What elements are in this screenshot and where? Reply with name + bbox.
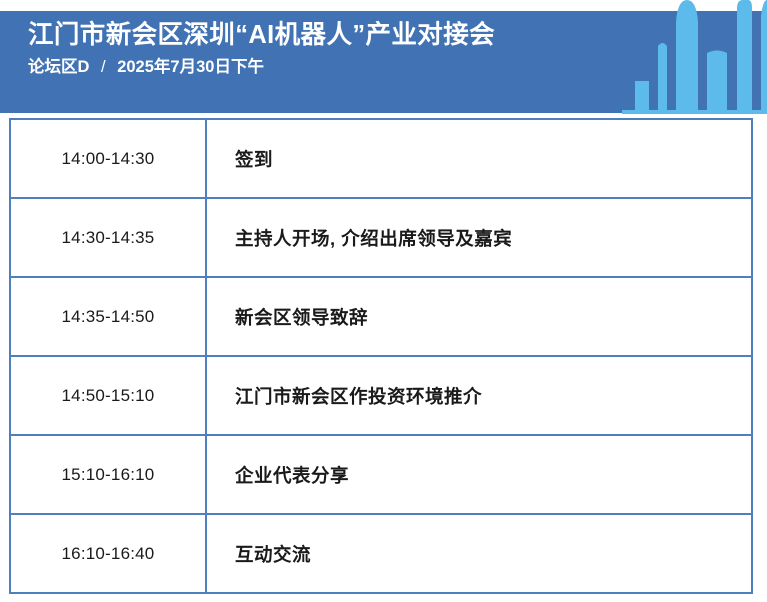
skyline-building-1 bbox=[635, 81, 649, 113]
row-time: 16:10-16:40 bbox=[10, 514, 206, 593]
row-time: 14:30-14:35 bbox=[10, 198, 206, 277]
agenda-poster: 江门市新会区深圳“AI机器人”产业对接会 论坛区D / 2025年7月30日下午 bbox=[0, 0, 767, 602]
row-topic: 企业代表分享 bbox=[206, 435, 752, 514]
skyline-building-2 bbox=[658, 43, 667, 113]
skyline-baseline bbox=[622, 110, 767, 114]
table-row: 14:35-14:50 新会区领导致辞 bbox=[10, 277, 752, 356]
row-topic: 主持人开场, 介绍出席领导及嘉宾 bbox=[206, 198, 752, 277]
table-row: 16:10-16:40 互动交流 bbox=[10, 514, 752, 593]
skyline-building-5 bbox=[737, 0, 752, 113]
skyline-building-3 bbox=[676, 0, 698, 113]
agenda-table-body: 14:00-14:30 签到 14:30-14:35 主持人开场, 介绍出席领导… bbox=[10, 119, 752, 593]
table-row: 14:30-14:35 主持人开场, 介绍出席领导及嘉宾 bbox=[10, 198, 752, 277]
skyline-building-6 bbox=[761, 0, 767, 113]
row-topic: 互动交流 bbox=[206, 514, 752, 593]
table-row: 14:50-15:10 江门市新会区作投资环境推介 bbox=[10, 356, 752, 435]
subtitle-date: 2025年7月30日下午 bbox=[117, 58, 264, 76]
row-topic: 江门市新会区作投资环境推介 bbox=[206, 356, 752, 435]
city-skyline-graphic bbox=[613, 0, 767, 120]
page-title: 江门市新会区深圳“AI机器人”产业对接会 bbox=[28, 18, 628, 52]
row-topic: 新会区领导致辞 bbox=[206, 277, 752, 356]
row-time: 14:50-15:10 bbox=[10, 356, 206, 435]
subtitle-venue: 论坛区D bbox=[28, 58, 89, 76]
table-row: 14:00-14:30 签到 bbox=[10, 119, 752, 198]
row-time: 14:35-14:50 bbox=[10, 277, 206, 356]
header-subtitle: 论坛区D / 2025年7月30日下午 bbox=[28, 54, 628, 80]
header-text-block: 江门市新会区深圳“AI机器人”产业对接会 论坛区D / 2025年7月30日下午 bbox=[28, 18, 628, 80]
subtitle-separator: / bbox=[94, 54, 113, 80]
row-topic: 签到 bbox=[206, 119, 752, 198]
skyline-building-4 bbox=[707, 51, 727, 114]
table-row: 15:10-16:10 企业代表分享 bbox=[10, 435, 752, 514]
row-time: 14:00-14:30 bbox=[10, 119, 206, 198]
row-time: 15:10-16:10 bbox=[10, 435, 206, 514]
agenda-table: 14:00-14:30 签到 14:30-14:35 主持人开场, 介绍出席领导… bbox=[9, 118, 753, 594]
